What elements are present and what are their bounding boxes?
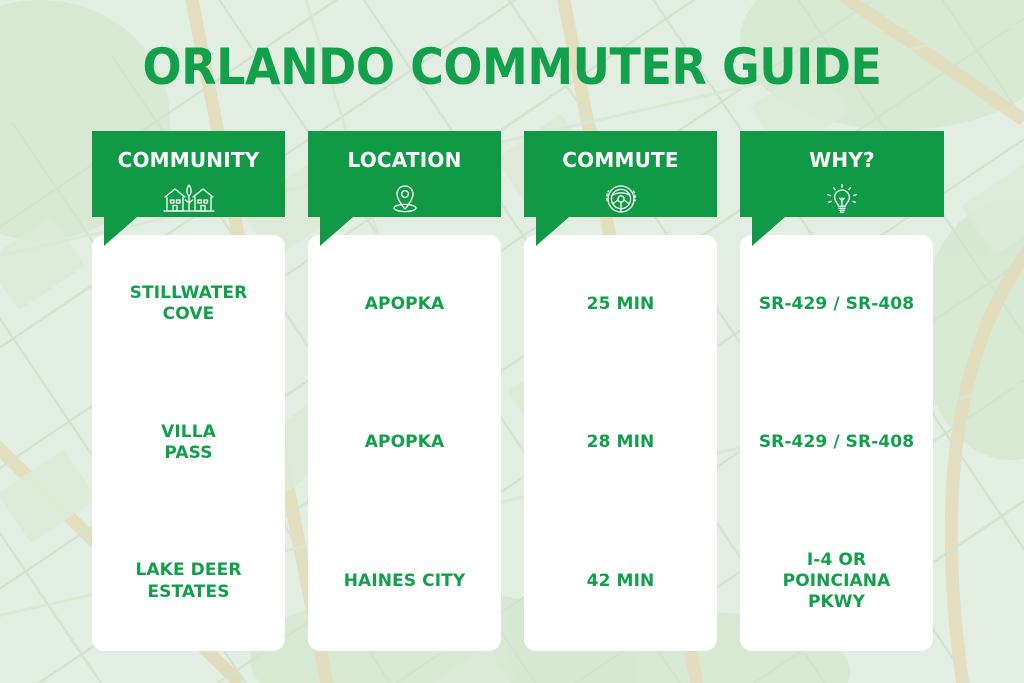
table-cell: I-4 OR POINCIANA PKWY	[740, 512, 933, 651]
map-pin-icon	[388, 182, 422, 216]
cell-text: 28 MIN	[587, 432, 655, 453]
table-cell: VILLA PASS	[92, 374, 285, 513]
table-cell: SR-429 / SR-408	[740, 235, 933, 374]
column-location: LOCATION APOPKA APOPKA	[308, 131, 501, 651]
table-cell: 25 MIN	[524, 235, 717, 374]
card-commute: 25 MIN 28 MIN 42 MIN	[524, 235, 717, 651]
cell-text: APOPKA	[365, 294, 444, 315]
steering-wheel-icon	[604, 182, 638, 216]
lightbulb-icon	[825, 182, 859, 216]
page-title: ORLANDO COMMUTER GUIDE	[41, 38, 983, 96]
card-location: APOPKA APOPKA HAINES CITY	[308, 235, 501, 651]
table-cell: STILLWATER COVE	[92, 235, 285, 374]
comparison-table: COMMUNITY	[92, 131, 948, 651]
table-cell: 28 MIN	[524, 374, 717, 513]
table-cell: APOPKA	[308, 235, 501, 374]
column-header-location[interactable]: LOCATION	[308, 131, 501, 217]
table-cell: 42 MIN	[524, 512, 717, 651]
tab-tail	[752, 217, 785, 246]
column-header-label: COMMUTE	[562, 150, 678, 170]
tab-tail	[536, 217, 569, 246]
column-commute: COMMUTE	[524, 131, 717, 651]
column-header-label: LOCATION	[347, 150, 461, 170]
cell-text: LAKE DEER ESTATES	[135, 560, 241, 603]
column-header-community[interactable]: COMMUNITY	[92, 131, 285, 217]
column-header-commute[interactable]: COMMUTE	[524, 131, 717, 217]
cell-text: SR-429 / SR-408	[759, 432, 914, 453]
table-cell: APOPKA	[308, 374, 501, 513]
houses-icon	[163, 182, 215, 216]
column-header-why[interactable]: WHY?	[740, 131, 944, 217]
cell-text: APOPKA	[365, 432, 444, 453]
column-header-label: COMMUNITY	[118, 150, 260, 170]
column-header-label: WHY?	[809, 150, 875, 170]
cell-text: STILLWATER COVE	[130, 283, 248, 326]
tab-tail	[104, 217, 137, 246]
infographic-root: ORLANDO COMMUTER GUIDE COMMUNITY	[0, 0, 1024, 683]
card-community: STILLWATER COVE VILLA PASS LAKE DEER EST…	[92, 235, 285, 651]
cell-text: 42 MIN	[587, 571, 655, 592]
column-why: WHY?	[740, 131, 933, 651]
table-cell: LAKE DEER ESTATES	[92, 512, 285, 651]
cell-text: VILLA PASS	[161, 422, 216, 465]
table-cell: SR-429 / SR-408	[740, 374, 933, 513]
column-community: COMMUNITY	[92, 131, 285, 651]
cell-text: 25 MIN	[587, 294, 655, 315]
cell-text: HAINES CITY	[344, 571, 466, 592]
card-why: SR-429 / SR-408 SR-429 / SR-408 I-4 OR P…	[740, 235, 933, 651]
table-cell: HAINES CITY	[308, 512, 501, 651]
cell-text: I-4 OR POINCIANA PKWY	[783, 550, 891, 614]
tab-tail	[320, 217, 353, 246]
cell-text: SR-429 / SR-408	[759, 294, 914, 315]
